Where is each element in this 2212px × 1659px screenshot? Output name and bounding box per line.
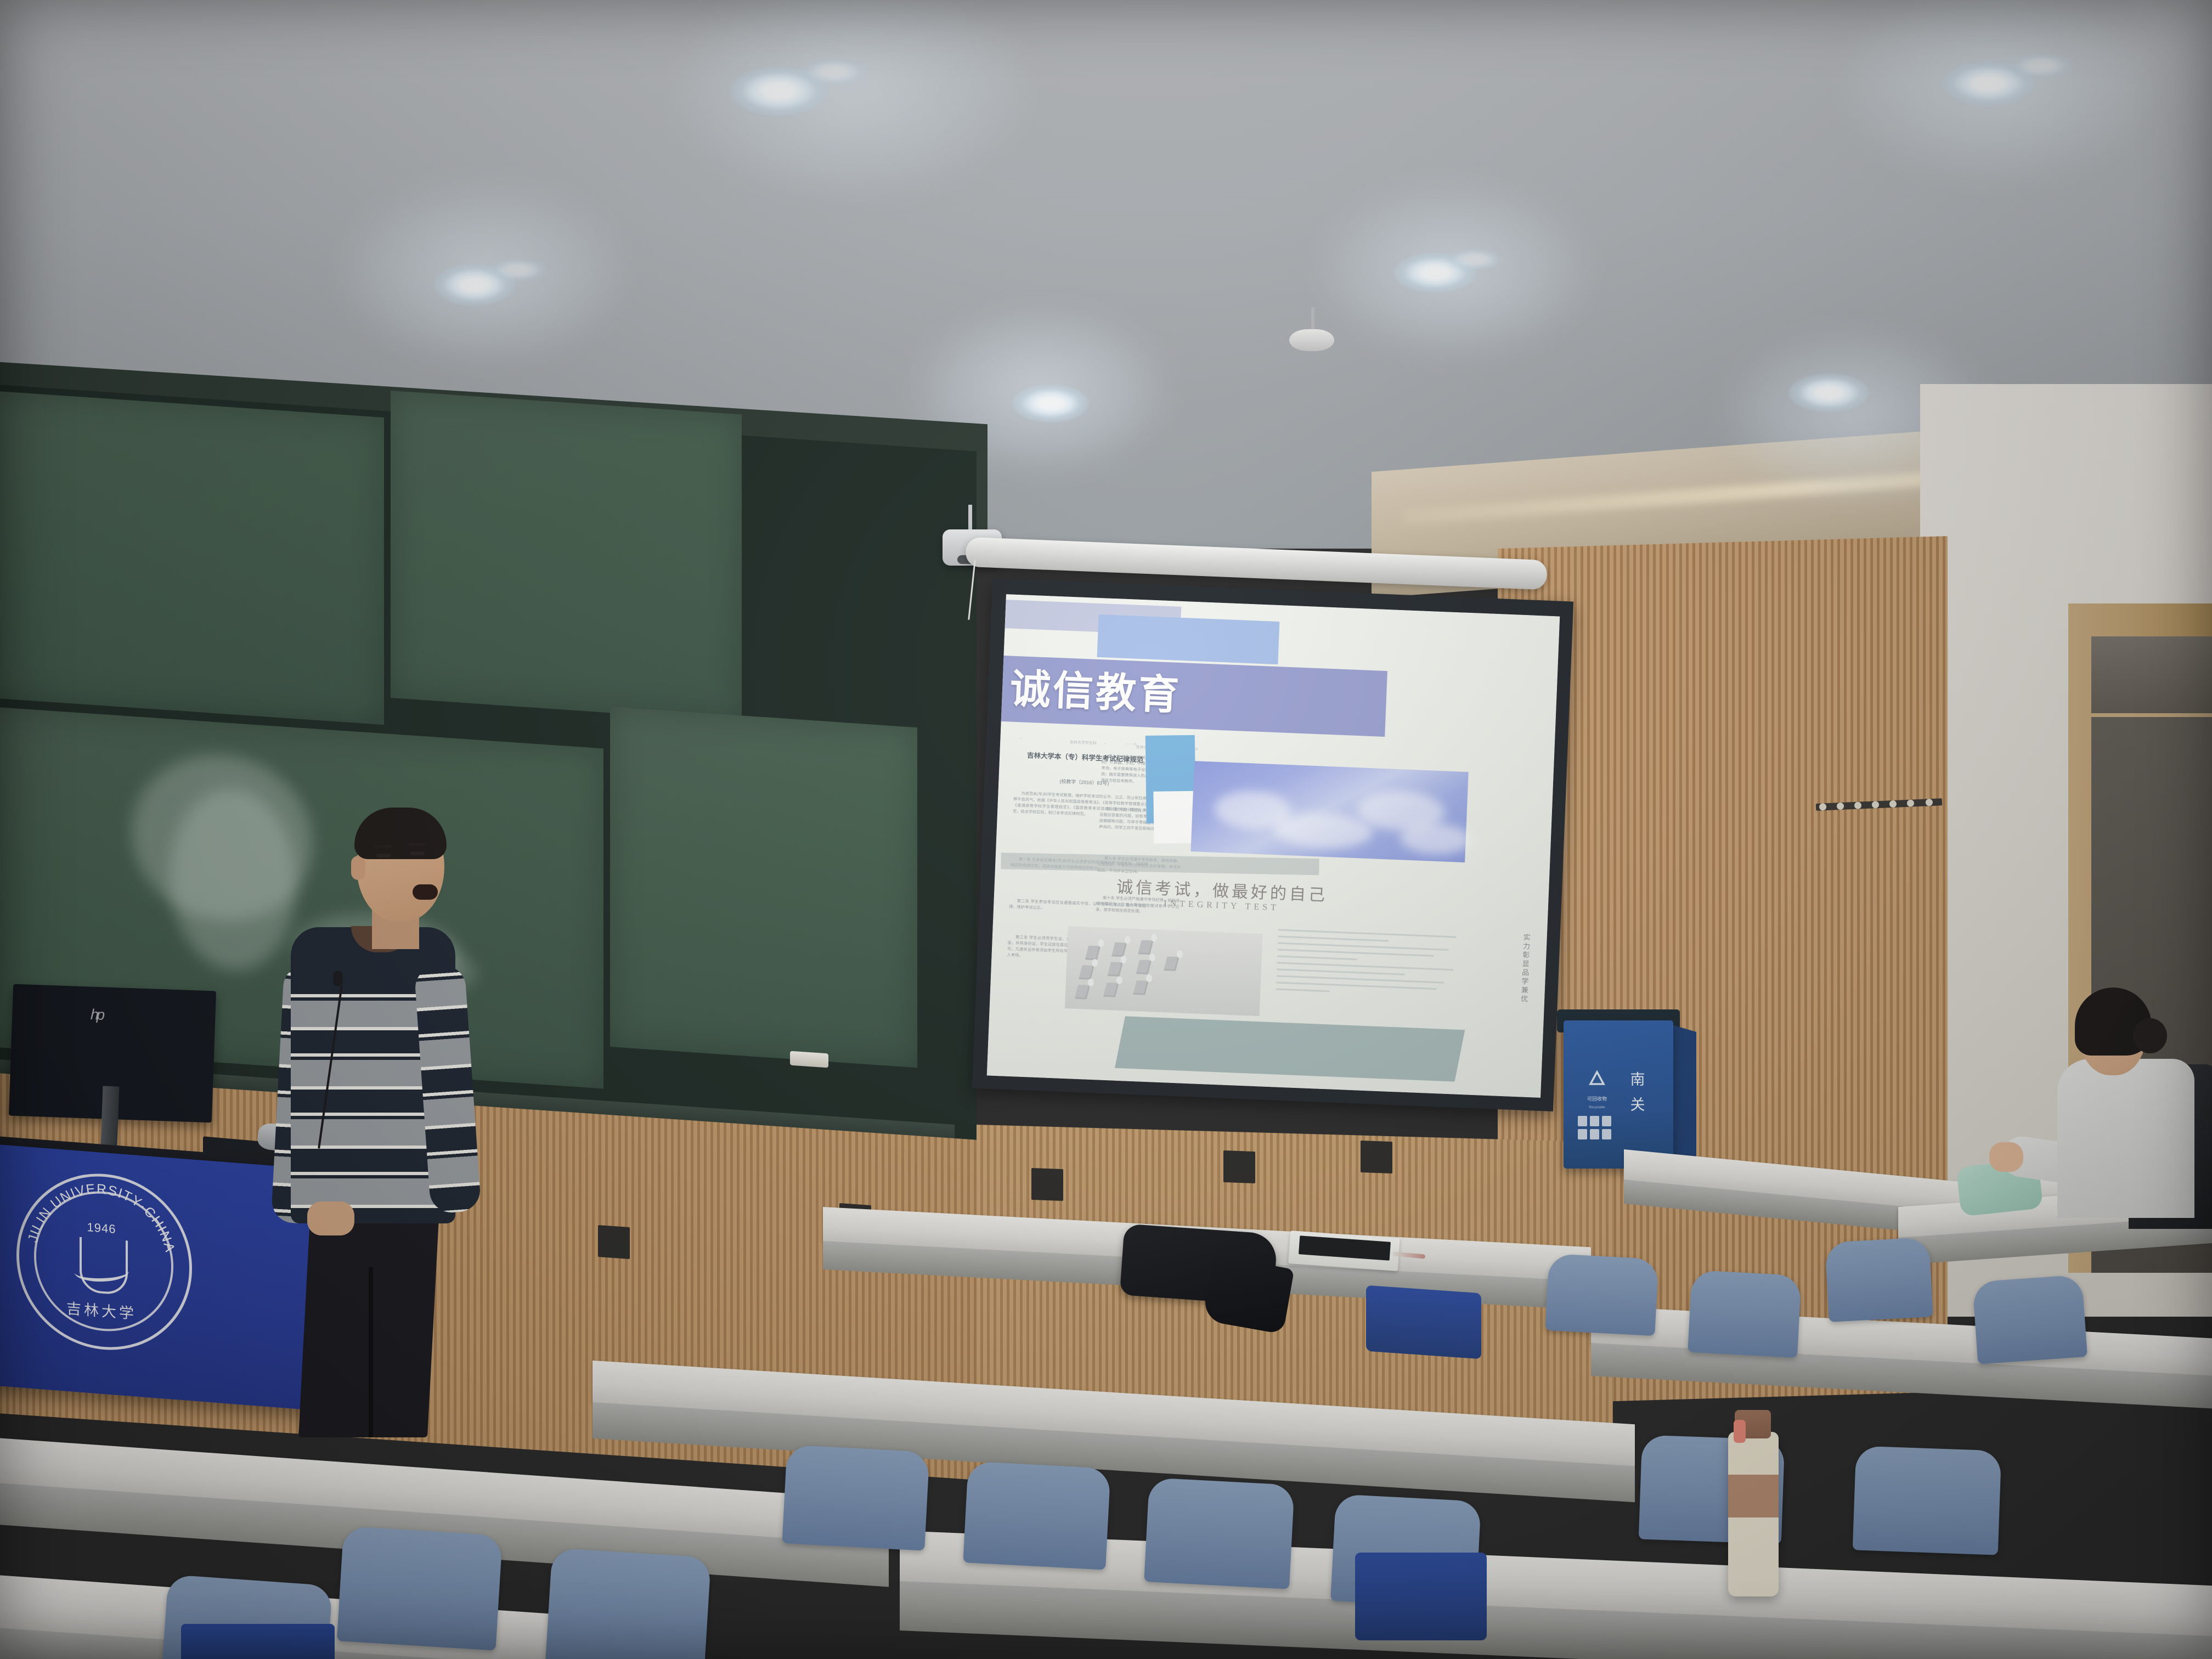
slide-vertical-text: 实力彰显品学兼优 xyxy=(1499,933,1532,1004)
chalkboard-panel xyxy=(0,391,384,725)
chalkboard-panel xyxy=(610,707,917,1068)
student-hair-bun xyxy=(2133,1018,2167,1053)
recycle-icon xyxy=(1585,1069,1609,1092)
wall-vent xyxy=(1223,1150,1255,1183)
downlight-icon xyxy=(488,258,548,282)
doc-back-chevron-icon[interactable]: ‹ xyxy=(1020,736,1029,744)
smoke-detector-icon xyxy=(1289,329,1334,351)
downlight-icon xyxy=(1012,384,1089,422)
chair[interactable] xyxy=(1853,1446,2001,1555)
student-body xyxy=(2057,1059,2194,1218)
doc-back-chevron-icon[interactable]: ‹ xyxy=(1104,742,1114,751)
chair-seat[interactable] xyxy=(1355,1553,1487,1640)
downlight-icon xyxy=(2008,53,2074,79)
downlight-icon xyxy=(1788,373,1870,413)
door-transom-window xyxy=(2091,636,2212,717)
presenter-ear xyxy=(351,856,365,880)
exam-hall-photo xyxy=(1065,926,1263,1016)
chalkboard-panel xyxy=(391,391,742,722)
chair[interactable] xyxy=(1144,1477,1295,1589)
wall-vent xyxy=(1031,1168,1063,1201)
presenter-leg-gap xyxy=(369,1267,373,1437)
bin-category-label-en: Recyclable xyxy=(1579,1106,1615,1109)
wall-vent xyxy=(1361,1141,1392,1173)
student-hand xyxy=(1989,1142,2023,1172)
hp-logo: hp xyxy=(90,1006,123,1025)
downlight-icon xyxy=(798,58,870,86)
chair[interactable] xyxy=(1825,1237,1933,1322)
slide-accent-bar-blue xyxy=(1097,614,1280,664)
downlight-icon xyxy=(1446,248,1503,271)
presentation-slide: 诚信教育 ‹ 吉林大学学生科 ⋯ − ⊙ 吉林大学本（专）科学生考试纪律规范 (… xyxy=(987,594,1560,1098)
water-bottle[interactable] xyxy=(1728,1432,1779,1596)
chair[interactable] xyxy=(1545,1254,1658,1336)
lapel-microphone-icon xyxy=(333,971,343,986)
chair[interactable] xyxy=(963,1461,1110,1570)
slide-regulation-list xyxy=(1275,929,1456,1013)
classroom-photo: 诚信教育 ‹ 吉林大学学生科 ⋯ − ⊙ 吉林大学本（专）科学生考试纪律规范 (… xyxy=(0,0,2212,1659)
presenter-eye xyxy=(410,851,425,855)
presenter-eye xyxy=(376,854,391,857)
chalkboard-eraser[interactable] xyxy=(790,1051,828,1068)
chair[interactable] xyxy=(1688,1270,1802,1358)
presenter-mouth xyxy=(413,884,438,900)
bin-item-icons xyxy=(1578,1116,1620,1149)
chair[interactable] xyxy=(782,1444,929,1550)
projection-screen: 诚信教育 ‹ 吉林大学学生科 ⋯ − ⊙ 吉林大学本（专）科学生考试纪律规范 (… xyxy=(987,594,1560,1098)
chair[interactable] xyxy=(1972,1274,2087,1364)
slide-teal-band xyxy=(1115,1016,1465,1081)
chair-seat[interactable] xyxy=(1366,1285,1481,1359)
chair[interactable] xyxy=(337,1526,503,1650)
chair-seat[interactable] xyxy=(181,1624,335,1659)
presenter-eyebrow xyxy=(374,845,392,848)
bin-district-text: 南关 xyxy=(1627,1067,1649,1118)
presenter-hand xyxy=(307,1201,354,1235)
presenter-eyebrow xyxy=(408,843,426,846)
wall-vent xyxy=(598,1225,630,1259)
sky-photo xyxy=(1190,761,1468,862)
bin-category-label: 可回收物 xyxy=(1579,1095,1615,1102)
bottle-clip[interactable] xyxy=(1734,1420,1746,1443)
chair[interactable] xyxy=(545,1548,712,1659)
